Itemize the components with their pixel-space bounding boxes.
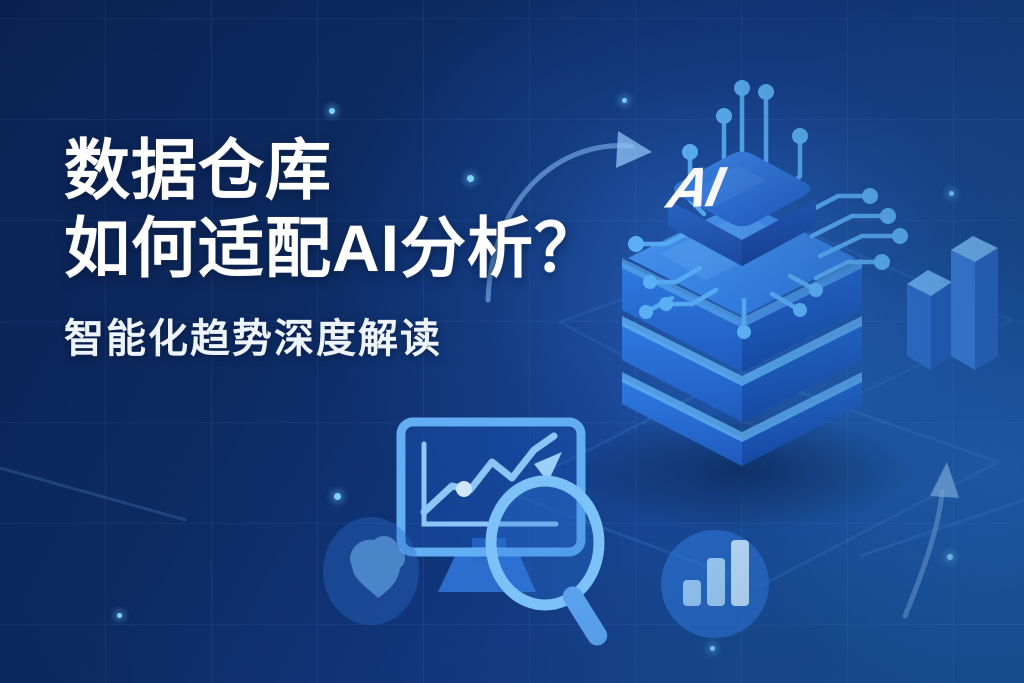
- vignette-overlay: [0, 0, 1024, 683]
- poster-canvas: AI: [0, 0, 1024, 683]
